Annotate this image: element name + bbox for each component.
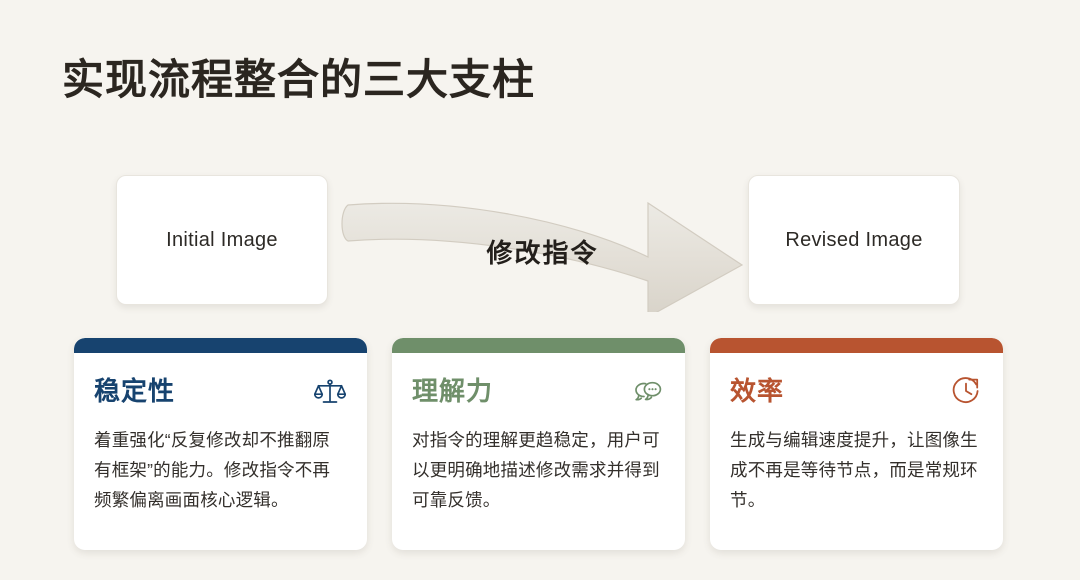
pillar-title-stability: 稳定性 [94,378,175,404]
pillar-description-stability: 着重强化“反复修改却不推翻原有框架”的能力。修改指令不再频繁偏离画面核心逻辑。 [94,425,347,515]
chat-bubbles-icon [631,374,665,408]
revised-image-box: Revised Image [748,175,960,305]
pillar-card-group: 稳定性 着重强化“反复修改却不 [0,338,1080,553]
card-accent-bar [74,338,367,353]
revised-image-label: Revised Image [785,229,922,252]
pillar-description-comprehension: 对指令的理解更趋稳定，用户可以更明确地描述修改需求并得到可靠反馈。 [412,425,665,515]
page-title: 实现流程整合的三大支柱 [62,56,535,104]
flow-diagram: Initial Image 修改指令 Revised Image [0,175,1080,305]
pillar-title-efficiency: 效率 [730,378,784,404]
pillar-card-efficiency: 效率 生成与编辑速度提升，让图像生成不再是等待节点，而是常规环节。 [710,338,1003,550]
curved-right-arrow-icon [330,167,755,312]
pillar-description-efficiency: 生成与编辑速度提升，让图像生成不再是等待节点，而是常规环节。 [730,425,983,515]
card-accent-bar [392,338,685,353]
pillar-card-comprehension: 理解力 对指令的理解更趋稳定，用户可以更明确地描述修改需求并 [392,338,685,550]
initial-image-box: Initial Image [116,175,328,305]
pillar-title-comprehension: 理解力 [412,378,493,404]
balance-scales-icon [313,374,347,408]
clock-rotate-icon [949,374,983,408]
slide-canvas: 实现流程整合的三大支柱 Initial Image 修改指令 Revised I… [0,0,1080,580]
card-accent-bar [710,338,1003,353]
initial-image-label: Initial Image [166,229,278,252]
pillar-card-stability: 稳定性 着重强化“反复修改却不 [74,338,367,550]
